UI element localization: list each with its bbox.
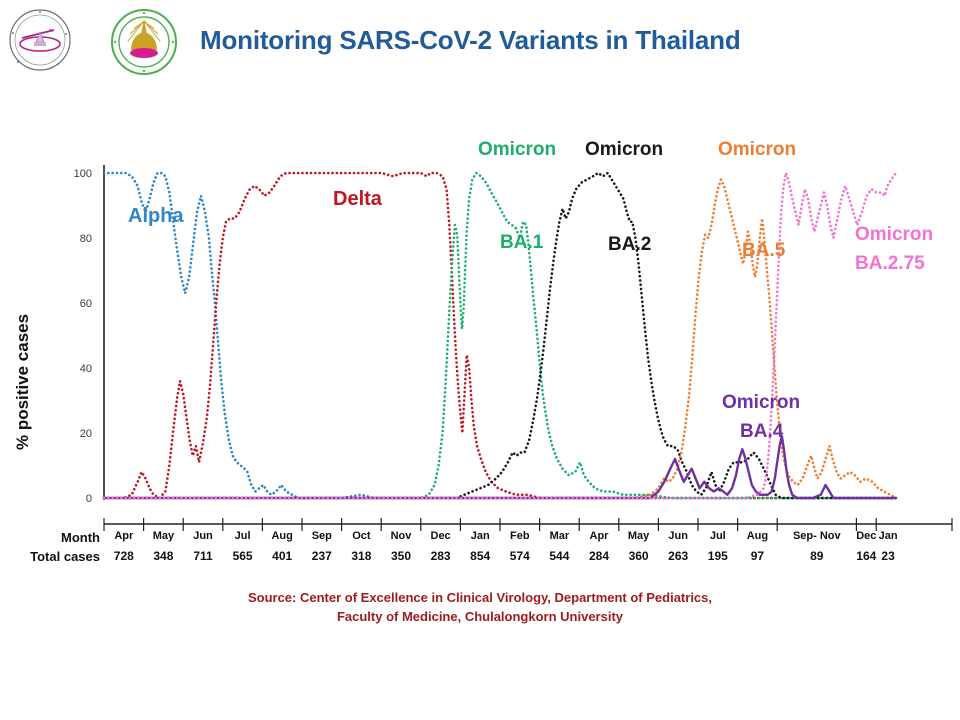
y-tick-label: 80 bbox=[80, 233, 92, 245]
series-label-omicron-ba-4: BA.4 bbox=[740, 421, 784, 442]
series-label-omicron-ba-1-top: Omicron bbox=[478, 139, 556, 160]
page-title: Monitoring SARS-CoV-2 Variants in Thaila… bbox=[200, 25, 960, 56]
month-label: Jan bbox=[858, 530, 918, 542]
series-line-alpha bbox=[104, 173, 896, 498]
month-label: Aug bbox=[727, 530, 787, 542]
series-line-omicron-ba-5 bbox=[104, 180, 896, 499]
slide-root: Monitoring SARS-CoV-2 Variants in Thaila… bbox=[0, 0, 960, 720]
y-tick-label: 20 bbox=[80, 428, 92, 440]
chart-canvas: 020406080100 % positive cases AlphaDelta… bbox=[0, 120, 960, 540]
series-line-omicron-ba-4 bbox=[104, 436, 896, 498]
source-line-1: Source: Center of Excellence in Clinical… bbox=[0, 588, 960, 607]
y-tick-label: 40 bbox=[80, 363, 92, 375]
series-annotations: AlphaDeltaOmicronBA.1OmicronBA.2OmicronB… bbox=[128, 139, 933, 442]
series-label-omicron-ba-5-top: Omicron bbox=[718, 139, 796, 160]
series-label-delta: Delta bbox=[333, 188, 383, 210]
month-totals-table: Month Total cases Apr728May348Jun711Jul5… bbox=[0, 516, 960, 576]
series-label-omicron-ba-1: BA.1 bbox=[500, 232, 544, 253]
source-credit: Source: Center of Excellence in Clinical… bbox=[0, 588, 960, 626]
chart-axes bbox=[104, 165, 952, 531]
row-label-month: Month bbox=[0, 530, 100, 545]
series-line-omicron-ba-2-75 bbox=[104, 173, 896, 498]
row-label-total-cases: Total cases bbox=[0, 549, 100, 564]
chulalongkorn-faculty-of-medicine-logo bbox=[110, 8, 178, 76]
series-label-omicron-ba-4-top: Omicron bbox=[722, 392, 800, 413]
center-of-excellence-logo bbox=[8, 8, 72, 72]
chart-series-group bbox=[104, 173, 896, 498]
source-line-2: Faculty of Medicine, Chulalongkorn Unive… bbox=[0, 607, 960, 626]
series-label-omicron-ba-2-75: BA.2.75 bbox=[855, 253, 925, 274]
series-label-omicron-ba-2-75-top: Omicron bbox=[855, 224, 933, 245]
variant-prevalence-chart: 020406080100 % positive cases AlphaDelta… bbox=[0, 120, 960, 540]
total-cases-value: 97 bbox=[727, 549, 787, 563]
y-axis-title: % positive cases bbox=[13, 314, 32, 450]
series-label-omicron-ba-5: BA.5 bbox=[742, 240, 786, 261]
series-label-omicron-ba-2-top: Omicron bbox=[585, 139, 663, 160]
series-line-omicron-ba-2 bbox=[104, 173, 896, 498]
series-label-alpha: Alpha bbox=[128, 205, 184, 227]
y-tick-label: 100 bbox=[74, 168, 92, 180]
series-line-omicron-ba-1 bbox=[104, 173, 896, 498]
total-cases-value: 23 bbox=[858, 549, 918, 563]
y-tick-label: 60 bbox=[80, 298, 92, 310]
series-line-delta bbox=[104, 173, 896, 498]
y-axis-ticks: 020406080100 bbox=[74, 168, 92, 505]
series-label-omicron-ba-2: BA.2 bbox=[608, 234, 651, 255]
y-tick-label: 0 bbox=[86, 493, 92, 505]
